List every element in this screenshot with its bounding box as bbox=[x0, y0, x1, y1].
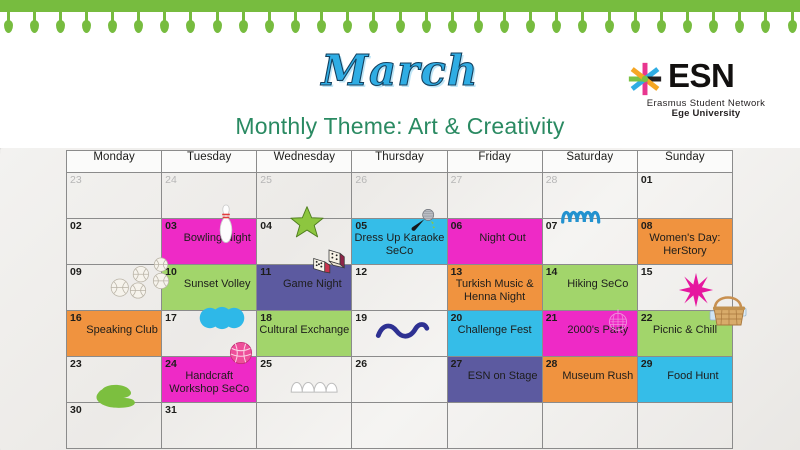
day-number: 07 bbox=[546, 221, 558, 232]
day-number: 16 bbox=[70, 313, 82, 324]
tassel-bulb bbox=[526, 20, 535, 33]
banner-tassel bbox=[30, 10, 39, 33]
tassel-bulb bbox=[213, 20, 222, 33]
day-cell-inner: 31 bbox=[162, 403, 256, 448]
banner-tassel bbox=[369, 10, 378, 33]
day-cell-inner: 16Speaking Club bbox=[67, 311, 161, 356]
tassel-bulb bbox=[788, 20, 797, 33]
day-cell-inner: 09 bbox=[67, 265, 161, 310]
calendar-day-cell[interactable]: 25 bbox=[257, 357, 352, 403]
calendar-day-cell[interactable]: 19 bbox=[352, 311, 447, 357]
day-cell-inner: 25 bbox=[257, 357, 351, 402]
banner-tassel bbox=[239, 10, 248, 33]
day-cell-inner: 23 bbox=[67, 357, 161, 402]
day-cell-inner: 29Food Hunt bbox=[638, 357, 732, 402]
calendar-week-row: 23242526272801 bbox=[67, 173, 733, 219]
calendar-day-cell[interactable] bbox=[542, 403, 637, 449]
tassel-bulb bbox=[709, 20, 718, 33]
day-number: 27 bbox=[451, 175, 463, 186]
calendar-day-cell[interactable]: 212000's Party bbox=[542, 311, 637, 357]
calendar-week-row: 16Speaking Club1718Cultural Exchange1920… bbox=[67, 311, 733, 357]
calendar-day-cell[interactable]: 22Picnic & Chill bbox=[637, 311, 732, 357]
banner-tassel bbox=[474, 10, 483, 33]
day-cell-inner: 01 bbox=[638, 173, 732, 218]
weekday-header-friday: Friday bbox=[447, 151, 542, 173]
day-number: 18 bbox=[260, 313, 272, 324]
banner-tassel bbox=[526, 10, 535, 33]
calendar-day-cell[interactable]: 28 bbox=[542, 173, 637, 219]
calendar-week-row: 2324Handcraft Workshop SeCo252627ESN on … bbox=[67, 357, 733, 403]
calendar-day-cell[interactable]: 29Food Hunt bbox=[637, 357, 732, 403]
banner-tassel bbox=[4, 10, 13, 33]
calendar-day-cell[interactable] bbox=[352, 403, 447, 449]
calendar-day-cell[interactable]: 07 bbox=[542, 219, 637, 265]
banner-tassel bbox=[317, 10, 326, 33]
banner-tassel bbox=[82, 10, 91, 33]
day-cell-inner bbox=[543, 403, 637, 448]
tassel-bulb bbox=[30, 20, 39, 33]
tassel-bulb bbox=[134, 20, 143, 33]
banner-tassel bbox=[448, 10, 457, 33]
day-number: 29 bbox=[641, 359, 653, 370]
event-label[interactable]: Challenge Fest bbox=[448, 324, 542, 337]
day-cell-inner: 212000's Party bbox=[543, 311, 637, 356]
event-label[interactable]: Night Out bbox=[448, 232, 542, 245]
day-cell-inner bbox=[448, 403, 542, 448]
day-cell-inner: 28Museum Rush bbox=[543, 357, 637, 402]
tassel-bulb bbox=[186, 20, 195, 33]
calendar-day-cell[interactable]: 11Game Night bbox=[257, 265, 352, 311]
calendar-day-cell[interactable]: 09 bbox=[67, 265, 162, 311]
esn-starburst-icon bbox=[626, 60, 664, 98]
day-cell-inner: 22Picnic & Chill bbox=[638, 311, 732, 356]
day-cell-inner: 05Dress Up Karaoke SeCo bbox=[352, 219, 446, 264]
day-cell-inner: 18Cultural Exchange bbox=[257, 311, 351, 356]
day-cell-inner: 13Turkish Music & Henna Night bbox=[448, 265, 542, 310]
weekday-header-wednesday: Wednesday bbox=[257, 151, 352, 173]
calendar-day-cell[interactable]: 24 bbox=[162, 173, 257, 219]
banner-tassel bbox=[552, 10, 561, 33]
day-cell-inner: 27 bbox=[448, 173, 542, 218]
calendar-day-cell[interactable]: 10Sunset Volley bbox=[162, 265, 257, 311]
calendar-day-cell[interactable]: 31 bbox=[162, 403, 257, 449]
banner-tassel bbox=[709, 10, 718, 33]
tassel-bulb bbox=[82, 20, 91, 33]
day-cell-inner: 25 bbox=[257, 173, 351, 218]
day-number: 26 bbox=[355, 359, 367, 370]
banner-tassel bbox=[605, 10, 614, 33]
esn-wordmark: ESN bbox=[668, 58, 734, 94]
event-label[interactable]: ESN on Stage bbox=[448, 370, 542, 383]
calendar-day-cell[interactable]: 24Handcraft Workshop SeCo bbox=[162, 357, 257, 403]
event-label[interactable]: Museum Rush bbox=[543, 370, 637, 383]
calendar-week-row: 0910Sunset Volley11Game Night1213Turkish… bbox=[67, 265, 733, 311]
tassel-bulb bbox=[4, 20, 13, 33]
day-number: 12 bbox=[355, 267, 367, 278]
tassel-bulb bbox=[291, 20, 300, 33]
tassel-bulb bbox=[552, 20, 561, 33]
banner-tassel bbox=[291, 10, 300, 33]
banner-tassel bbox=[108, 10, 117, 33]
calendar-day-cell[interactable]: 15 bbox=[637, 265, 732, 311]
tassel-bulb bbox=[578, 20, 587, 33]
weekday-header-thursday: Thursday bbox=[352, 151, 447, 173]
day-cell-inner: 17 bbox=[162, 311, 256, 356]
day-cell-inner: 14Hiking SeCo bbox=[543, 265, 637, 310]
day-number: 17 bbox=[165, 313, 177, 324]
event-label[interactable]: Sunset Volley bbox=[162, 278, 256, 291]
banner-tassel bbox=[213, 10, 222, 33]
day-number: 10 bbox=[165, 267, 177, 278]
tassel-bulb bbox=[448, 20, 457, 33]
weekday-header-saturday: Saturday bbox=[542, 151, 637, 173]
banner-tassel bbox=[265, 10, 274, 33]
calendar-day-cell[interactable]: 02 bbox=[67, 219, 162, 265]
calendar-grid: MondayTuesdayWednesdayThursdayFridaySatu… bbox=[66, 150, 733, 449]
calendar-day-cell[interactable]: 16Speaking Club bbox=[67, 311, 162, 357]
day-number: 19 bbox=[355, 313, 367, 324]
day-number: 06 bbox=[451, 221, 463, 232]
calendar-day-cell[interactable]: 13Turkish Music & Henna Night bbox=[447, 265, 542, 311]
day-cell-inner: 24 bbox=[162, 173, 256, 218]
calendar-day-cell[interactable]: 27ESN on Stage bbox=[447, 357, 542, 403]
esn-section-name: Ege University bbox=[628, 108, 784, 119]
event-label[interactable]: Speaking Club bbox=[67, 324, 161, 337]
calendar-week-row: 3031 bbox=[67, 403, 733, 449]
day-number: 01 bbox=[641, 175, 653, 186]
day-number: 08 bbox=[641, 221, 653, 232]
day-number: 03 bbox=[165, 221, 177, 232]
banner-tassel bbox=[343, 10, 352, 33]
banner-tassel bbox=[422, 10, 431, 33]
calendar-day-cell[interactable]: 06Night Out bbox=[447, 219, 542, 265]
banner-tassel bbox=[761, 10, 770, 33]
day-cell-inner: 20Challenge Fest bbox=[448, 311, 542, 356]
calendar-day-cell[interactable]: 30 bbox=[67, 403, 162, 449]
calendar-day-cell[interactable] bbox=[637, 403, 732, 449]
calendar-week-row: 0203Bowling Night0405Dress Up Karaoke Se… bbox=[67, 219, 733, 265]
day-cell-inner: 27ESN on Stage bbox=[448, 357, 542, 402]
day-number: 30 bbox=[70, 405, 82, 416]
weekday-header-monday: Monday bbox=[67, 151, 162, 173]
tassel-bulb bbox=[265, 20, 274, 33]
calendar-day-cell[interactable] bbox=[257, 403, 352, 449]
calendar-day-cell[interactable]: 12 bbox=[352, 265, 447, 311]
calendar-day-cell[interactable]: 20Challenge Fest bbox=[447, 311, 542, 357]
day-number: 22 bbox=[641, 313, 653, 324]
day-cell-inner: 12 bbox=[352, 265, 446, 310]
day-number: 26 bbox=[355, 175, 367, 186]
tassel-bulb bbox=[422, 20, 431, 33]
day-number: 28 bbox=[546, 175, 558, 186]
day-number: 04 bbox=[260, 221, 272, 232]
day-number: 02 bbox=[70, 221, 82, 232]
day-cell-inner: 15 bbox=[638, 265, 732, 310]
day-cell-inner: 26 bbox=[352, 357, 446, 402]
day-cell-inner: 26 bbox=[352, 173, 446, 218]
event-label[interactable]: Picnic & Chill bbox=[638, 324, 732, 337]
event-label[interactable]: Hiking SeCo bbox=[543, 278, 637, 291]
day-number: 20 bbox=[451, 313, 463, 324]
calendar-day-cell[interactable]: 26 bbox=[352, 357, 447, 403]
day-cell-inner: 23 bbox=[67, 173, 161, 218]
day-cell-inner bbox=[257, 403, 351, 448]
calendar-day-cell[interactable]: 23 bbox=[67, 173, 162, 219]
day-number: 14 bbox=[546, 267, 558, 278]
tassel-bulb bbox=[761, 20, 770, 33]
day-number: 21 bbox=[546, 313, 558, 324]
day-number: 09 bbox=[70, 267, 82, 278]
weekday-header-sunday: Sunday bbox=[637, 151, 732, 173]
event-label[interactable]: Handcraft Workshop SeCo bbox=[162, 370, 256, 396]
day-cell-inner bbox=[638, 403, 732, 448]
calendar-day-cell[interactable] bbox=[447, 403, 542, 449]
day-number: 28 bbox=[546, 359, 558, 370]
banner-tassel bbox=[683, 10, 692, 33]
day-cell-inner: 11Game Night bbox=[257, 265, 351, 310]
day-number: 13 bbox=[451, 267, 463, 278]
day-cell-inner: 03Bowling Night bbox=[162, 219, 256, 264]
calendar-header-row: MondayTuesdayWednesdayThursdayFridaySatu… bbox=[67, 151, 733, 173]
banner-tassel bbox=[735, 10, 744, 33]
day-number: 27 bbox=[451, 359, 463, 370]
day-number: 05 bbox=[355, 221, 367, 232]
calendar-day-cell[interactable]: 28Museum Rush bbox=[542, 357, 637, 403]
calendar-day-cell[interactable]: 03Bowling Night bbox=[162, 219, 257, 265]
calendar-day-cell[interactable]: 25 bbox=[257, 173, 352, 219]
banner-tassel bbox=[500, 10, 509, 33]
tassel-bulb bbox=[631, 20, 640, 33]
tassel-bulb bbox=[56, 20, 65, 33]
day-cell-inner: 06Night Out bbox=[448, 219, 542, 264]
calendar-day-cell[interactable]: 01 bbox=[637, 173, 732, 219]
day-cell-inner bbox=[352, 403, 446, 448]
event-label[interactable]: Women's Day: HerStory bbox=[638, 232, 732, 258]
tassel-bulb bbox=[735, 20, 744, 33]
event-label[interactable]: Dress Up Karaoke SeCo bbox=[352, 232, 446, 258]
tassel-bulb bbox=[160, 20, 169, 33]
weekday-header-tuesday: Tuesday bbox=[162, 151, 257, 173]
day-cell-inner: 28 bbox=[543, 173, 637, 218]
day-number: 25 bbox=[260, 175, 272, 186]
day-cell-inner: 08Women's Day: HerStory bbox=[638, 219, 732, 264]
event-label[interactable]: 2000's Party bbox=[543, 324, 637, 337]
banner-tassel bbox=[186, 10, 195, 33]
tassel-bulb bbox=[108, 20, 117, 33]
tassel-banner bbox=[0, 0, 800, 46]
day-number: 23 bbox=[70, 175, 82, 186]
tassel-bulb bbox=[657, 20, 666, 33]
calendar-day-cell[interactable]: 04 bbox=[257, 219, 352, 265]
banner-tassel bbox=[160, 10, 169, 33]
esn-logo: ESN Erasmus Student Network Ege Universi… bbox=[626, 58, 784, 120]
tassel-bulb bbox=[683, 20, 692, 33]
calendar-day-cell[interactable]: 17 bbox=[162, 311, 257, 357]
banner-tassel bbox=[657, 10, 666, 33]
calendar-day-cell[interactable]: 18Cultural Exchange bbox=[257, 311, 352, 357]
banner-tassel bbox=[578, 10, 587, 33]
event-label[interactable]: Food Hunt bbox=[638, 370, 732, 383]
banner-tassel bbox=[134, 10, 143, 33]
tassel-bulb bbox=[239, 20, 248, 33]
day-cell-inner: 07 bbox=[543, 219, 637, 264]
day-cell-inner: 02 bbox=[67, 219, 161, 264]
day-number: 24 bbox=[165, 359, 177, 370]
day-number: 15 bbox=[641, 267, 653, 278]
banner-tassel bbox=[396, 10, 405, 33]
event-label[interactable]: Game Night bbox=[257, 278, 351, 291]
calendar-day-cell[interactable]: 27 bbox=[447, 173, 542, 219]
event-label[interactable]: Turkish Music & Henna Night bbox=[448, 278, 542, 304]
day-cell-inner: 24Handcraft Workshop SeCo bbox=[162, 357, 256, 402]
tassel-bulb bbox=[605, 20, 614, 33]
tassel-bulb bbox=[317, 20, 326, 33]
tassel-bulb bbox=[396, 20, 405, 33]
banner-tassel bbox=[631, 10, 640, 33]
banner-tassel bbox=[788, 10, 797, 33]
day-number: 23 bbox=[70, 359, 82, 370]
day-cell-inner: 30 bbox=[67, 403, 161, 448]
day-cell-inner: 19 bbox=[352, 311, 446, 356]
banner-tassel bbox=[56, 10, 65, 33]
day-cell-inner: 10Sunset Volley bbox=[162, 265, 256, 310]
calendar-day-cell[interactable]: 05Dress Up Karaoke SeCo bbox=[352, 219, 447, 265]
day-number: 31 bbox=[165, 405, 177, 416]
day-number: 25 bbox=[260, 359, 272, 370]
event-label[interactable]: Bowling Night bbox=[162, 232, 256, 245]
calendar-day-cell[interactable]: 14Hiking SeCo bbox=[542, 265, 637, 311]
calendar-day-cell[interactable]: 23 bbox=[67, 357, 162, 403]
calendar-day-cell[interactable]: 26 bbox=[352, 173, 447, 219]
tassel-bulb bbox=[343, 20, 352, 33]
tassel-bulb bbox=[369, 20, 378, 33]
day-cell-inner: 04 bbox=[257, 219, 351, 264]
event-label[interactable]: Cultural Exchange bbox=[257, 324, 351, 337]
tassel-bulb bbox=[474, 20, 483, 33]
day-number: 11 bbox=[260, 267, 271, 278]
calendar-day-cell[interactable]: 08Women's Day: HerStory bbox=[637, 219, 732, 265]
day-number: 24 bbox=[165, 175, 177, 186]
tassel-bulb bbox=[500, 20, 509, 33]
